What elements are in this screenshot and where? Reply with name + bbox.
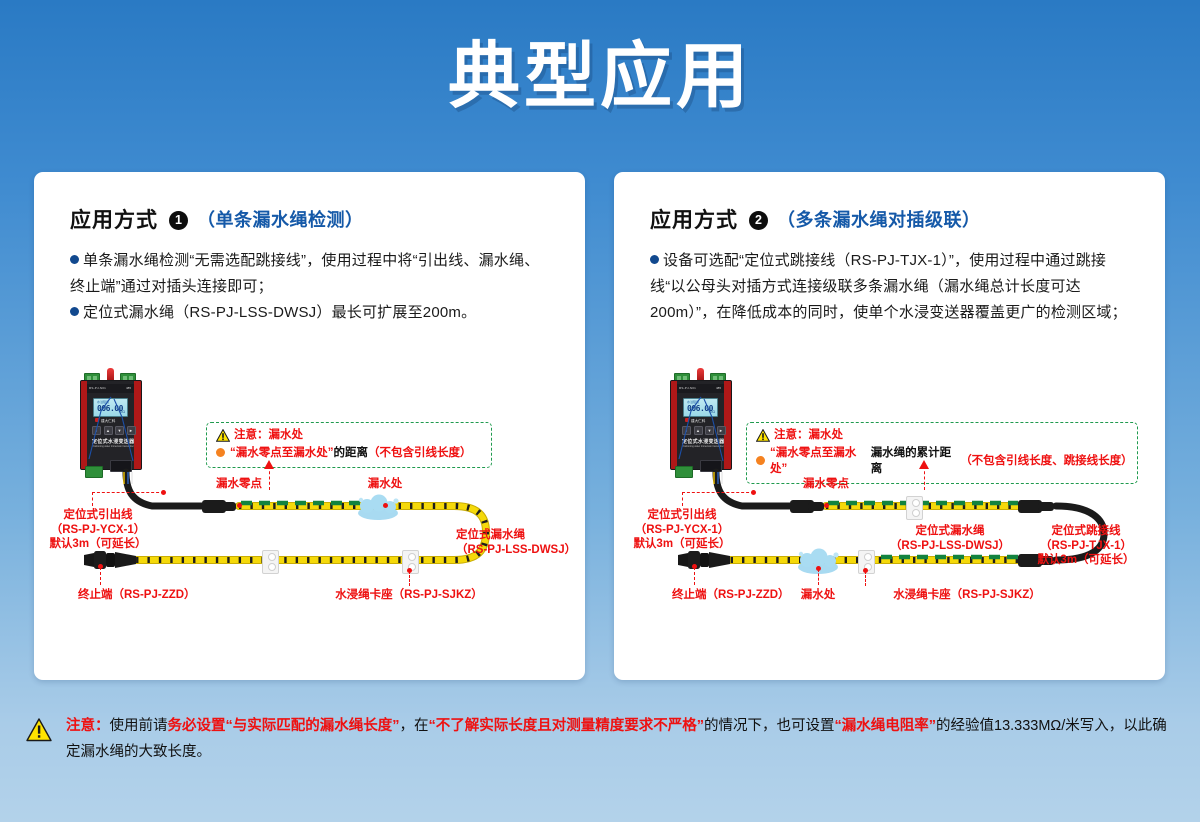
footer-seg-2: 使用前请: [110, 718, 168, 734]
notice-line-1: 注意：漏水处: [216, 428, 482, 444]
leader-line: [409, 571, 410, 586]
poster-stage: 典型应用 应用方式 1 （单条漏水绳检测） 单条漏水绳检测“无需选配跳接线”，使…: [0, 0, 1200, 822]
label-rope-1: 定位式漏水绳 （RS-PJ-LSS-DWSJ）: [456, 528, 576, 557]
leader-line: [682, 492, 683, 506]
panel-1-notice-box: 注意：漏水处 “漏水零点至漏水处” 的距离 （不包含引线长度）: [206, 422, 492, 468]
water-splash-icon: [352, 490, 406, 524]
label-clip-2: 水浸绳卡座（RS-PJ-SJKZ）: [860, 588, 1074, 603]
panel-1-diagram: RS-PJ-N01 485 水浸阻值 006.00 MΩ 建大仁科 ‹ ▲ ▼ …: [34, 172, 585, 680]
label-terminator-1: 终止端（RS-PJ-ZZD）: [78, 588, 196, 603]
panel-2-notice-box: 注意：漏水处 “漏水零点至漏水处” 漏水绳的累计距离 （不包含引线长度、跳接线长…: [746, 422, 1138, 484]
rope-clip: [906, 496, 923, 520]
leader-dot: [751, 490, 756, 495]
label-terminator-2: 终止端（RS-PJ-ZZD）: [672, 588, 790, 603]
warning-triangle-icon: [26, 718, 52, 742]
label-lead-wire-2-l1: 定位式引出线: [622, 508, 742, 523]
footer-seg-6: 的情况下，也可设置: [704, 718, 835, 734]
footer-seg-4: ，在: [400, 718, 429, 734]
leader-line: [865, 571, 866, 586]
label-rope-2-l2: （RS-PJ-LSS-DWSJ）: [860, 539, 1040, 554]
notice-line-2: “漏水零点至漏水处” 的距离 （不包含引线长度）: [216, 445, 482, 461]
footer-seg-3: 务必设置“与实际匹配的漏水绳长度”: [168, 718, 400, 734]
leader-arrow-up-icon: [917, 460, 931, 472]
label-lead-wire-1-l1: 定位式引出线: [42, 508, 154, 523]
label-jumper-2-l1: 定位式跳接线: [1022, 524, 1150, 539]
leader-dot: [824, 503, 829, 508]
label-lead-wire-2-l2: （RS-PJ-YCX-1）: [622, 523, 742, 538]
jumper-connector-male-top: [1038, 502, 1054, 511]
rope-clip: [262, 550, 279, 574]
label-jumper-2: 定位式跳接线 （RS-PJ-TJX-1） 默认3m（可延长）: [1022, 524, 1150, 568]
footer-text: 注意：使用前请务必设置“与实际匹配的漏水绳长度”，在“不了解实际长度且对测量精度…: [66, 713, 1174, 766]
label-jumper-2-l3: 默认3m（可延长）: [1022, 553, 1150, 568]
connector-plug-male: [220, 502, 236, 511]
notice-1-mid: 的距离: [334, 445, 369, 461]
label-leak-point-2: 漏水处: [792, 588, 844, 603]
label-lead-wire-2-l3: 默认3m（可延长）: [622, 537, 742, 552]
warning-triangle-icon: [756, 429, 770, 442]
label-rope-1-l1: 定位式漏水绳: [456, 528, 576, 543]
page-title: 典型应用: [0, 38, 1200, 117]
notice-line-2: “漏水零点至漏水处” 漏水绳的累计距离 （不包含引线长度、跳接线长度）: [756, 445, 1128, 477]
notice-2-mid: 漏水绳的累计距离: [871, 445, 961, 477]
label-zero-point-2: 漏水零点: [789, 477, 863, 492]
leader-line: [818, 569, 819, 585]
leader-line: [682, 492, 754, 493]
label-lead-wire-1: 定位式引出线 （RS-PJ-YCX-1） 默认3m（可延长）: [42, 508, 154, 552]
leader-dot: [237, 503, 242, 508]
leader-line: [694, 567, 695, 585]
notice-2-title: 注意：漏水处: [774, 428, 843, 444]
notice-1-red: （不包含引线长度）: [368, 445, 472, 461]
panel-2-diagram: RS-PJ-N01 485 水浸阻值 006.00 MΩ 建大仁科 ‹ ▲ ▼ …: [614, 172, 1165, 680]
water-splash-icon: [792, 544, 846, 578]
footer-seg-7: “漏水绳电阻率”: [835, 718, 937, 734]
application-panel-1: 应用方式 1 （单条漏水绳检测） 单条漏水绳检测“无需选配跳接线”，使用过程中将…: [34, 172, 585, 680]
leader-dot: [161, 490, 166, 495]
leader-line: [92, 492, 93, 506]
label-zero-point-1: 漏水零点: [202, 477, 276, 492]
footer-seg-1: 注意：: [66, 718, 110, 734]
label-rope-2: 定位式漏水绳 （RS-PJ-LSS-DWSJ）: [860, 524, 1040, 553]
leader-dot: [383, 503, 388, 508]
notice-line-1: 注意：漏水处: [756, 428, 1128, 444]
application-panel-2: 应用方式 2 （多条漏水绳对插级联） 设备可选配“定位式跳接线（RS-PJ-TJ…: [614, 172, 1165, 680]
warning-triangle-icon: [216, 429, 230, 442]
label-jumper-2-l2: （RS-PJ-TJX-1）: [1022, 539, 1150, 554]
label-leak-point-1: 漏水处: [359, 477, 411, 492]
label-lead-wire-1-l3: 默认3m（可延长）: [42, 537, 154, 552]
label-lead-wire-2: 定位式引出线 （RS-PJ-YCX-1） 默认3m（可延长）: [622, 508, 742, 552]
label-rope-1-l2: （RS-PJ-LSS-DWSJ）: [456, 543, 576, 558]
notice-1-quote: “漏水零点至漏水处”: [230, 445, 334, 461]
connector-plug-male: [808, 502, 824, 511]
orange-dot-icon: [216, 448, 225, 457]
notice-2-quote: “漏水零点至漏水处”: [770, 445, 871, 477]
notice-2-red: （不包含引线长度、跳接线长度）: [960, 453, 1128, 469]
label-rope-2-l1: 定位式漏水绳: [860, 524, 1040, 539]
leader-line: [92, 492, 164, 493]
footer-seg-5: “不了解实际长度且对测量精度要求不严格”: [429, 718, 705, 734]
leader-arrow-up-icon: [262, 460, 276, 472]
label-lead-wire-1-l2: （RS-PJ-YCX-1）: [42, 523, 154, 538]
leader-line: [100, 567, 101, 585]
label-clip-1: 水浸绳卡座（RS-PJ-SJKZ）: [302, 588, 516, 603]
notice-1-title: 注意：漏水处: [234, 428, 303, 444]
orange-dot-icon: [756, 456, 765, 465]
